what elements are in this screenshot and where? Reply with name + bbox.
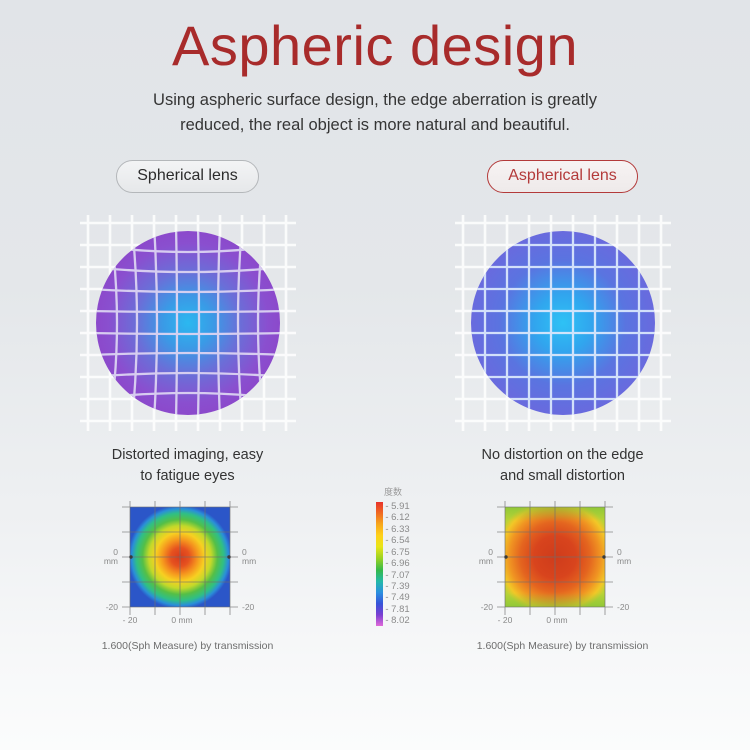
aspherical-lens-image <box>455 215 671 431</box>
right-marker <box>227 555 230 558</box>
page-subtitle: Using aspheric surface design, the edge … <box>0 88 750 138</box>
y-axis-right-zero-unit: mm <box>617 556 631 566</box>
left-marker <box>129 555 132 558</box>
power-distribution-chart-row: 0 mm -20 0 mm -20 - 20 0 mm 1.600(Sph Me… <box>0 493 750 652</box>
spherical-heatmap: 0 mm -20 0 mm -20 - 20 0 mm <box>100 493 275 633</box>
lens-illustration-row: Distorted imaging, easy to fatigue eyes <box>0 215 750 487</box>
colorbar-tick: - 7.39 <box>385 582 409 592</box>
y-axis-zero-unit: mm <box>104 556 118 566</box>
aspherical-caption-line-1: No distortion on the edge <box>481 445 643 466</box>
lens-disc <box>471 231 655 415</box>
x-axis-min-label: - 20 <box>123 615 138 625</box>
y-axis-right-min-label: -20 <box>617 602 630 612</box>
colorbar-tick: - 6.54 <box>385 536 409 546</box>
y-axis-zero-unit: mm <box>479 556 493 566</box>
y-axis-min-label: -20 <box>481 602 494 612</box>
x-axis-center-label: 0 mm <box>546 615 567 625</box>
badge-spherical-lens[interactable]: Spherical lens <box>116 160 259 193</box>
subtitle-line-2: reduced, the real object is more natural… <box>60 113 690 138</box>
colorbar-legend: 度数 - 5.91 - 6.12 - 6.33 - 6.54 - 6.75 - … <box>358 485 428 626</box>
spherical-lens-caption: Distorted imaging, easy to fatigue eyes <box>112 445 264 487</box>
aspheric-design-infographic: Aspheric design Using aspheric surface d… <box>0 0 750 750</box>
colorbar-tick: - 6.12 <box>385 513 409 523</box>
x-axis-min-label: - 20 <box>498 615 513 625</box>
colorbar-tick: - 8.02 <box>385 616 409 626</box>
chart-cell-aspherical: 0 mm -20 0 mm -20 - 20 0 mm 1.600(Sph Me… <box>375 493 750 652</box>
page-title: Aspheric design <box>0 0 750 78</box>
right-marker <box>602 555 605 558</box>
colorbar-tick: - 5.91 <box>385 502 409 512</box>
chart-cell-spherical: 0 mm -20 0 mm -20 - 20 0 mm 1.600(Sph Me… <box>0 493 375 652</box>
aspherical-lens-caption: No distortion on the edge and small dist… <box>481 445 643 487</box>
colorbar-title: 度数 <box>384 485 402 498</box>
left-marker <box>504 555 507 558</box>
aspherical-caption-line-2: and small distortion <box>481 466 643 487</box>
lens-disc <box>96 231 280 415</box>
x-axis-center-label: 0 mm <box>171 615 192 625</box>
y-axis-right-min-label: -20 <box>242 602 255 612</box>
subtitle-line-1: Using aspheric surface design, the edge … <box>60 88 690 113</box>
aspherical-chart-footnote: 1.600(Sph Measure) by transmission <box>477 640 649 652</box>
colorbar-tick: - 7.49 <box>385 593 409 603</box>
spherical-caption-line-1: Distorted imaging, easy <box>112 445 264 466</box>
spherical-lens-image <box>80 215 296 431</box>
lens-cell-aspherical: No distortion on the edge and small dist… <box>375 215 750 487</box>
spherical-caption-line-2: to fatigue eyes <box>112 466 264 487</box>
badge-aspherical-lens[interactable]: Aspherical lens <box>487 160 638 193</box>
colorbar-tick: - 7.07 <box>385 571 409 581</box>
lens-type-badge-row: Spherical lens Aspherical lens <box>0 160 750 193</box>
badge-cell-right: Aspherical lens <box>375 160 750 193</box>
colorbar-tick: - 6.33 <box>385 525 409 535</box>
colorbar-body: - 5.91 - 6.12 - 6.33 - 6.54 - 6.75 - 6.9… <box>376 502 409 626</box>
colorbar-gradient <box>376 502 383 626</box>
colorbar-tick: - 6.75 <box>385 548 409 558</box>
colorbar-tick: - 7.81 <box>385 605 409 615</box>
badge-cell-left: Spherical lens <box>0 160 375 193</box>
lens-cell-spherical: Distorted imaging, easy to fatigue eyes <box>0 215 375 487</box>
aspherical-heatmap: 0 mm -20 0 mm -20 - 20 0 mm <box>475 493 650 633</box>
y-axis-right-zero-unit: mm <box>242 556 256 566</box>
colorbar-tick-list: - 5.91 - 6.12 - 6.33 - 6.54 - 6.75 - 6.9… <box>385 502 409 626</box>
spherical-chart-footnote: 1.600(Sph Measure) by transmission <box>102 640 274 652</box>
y-axis-min-label: -20 <box>106 602 119 612</box>
colorbar-tick: - 6.96 <box>385 559 409 569</box>
